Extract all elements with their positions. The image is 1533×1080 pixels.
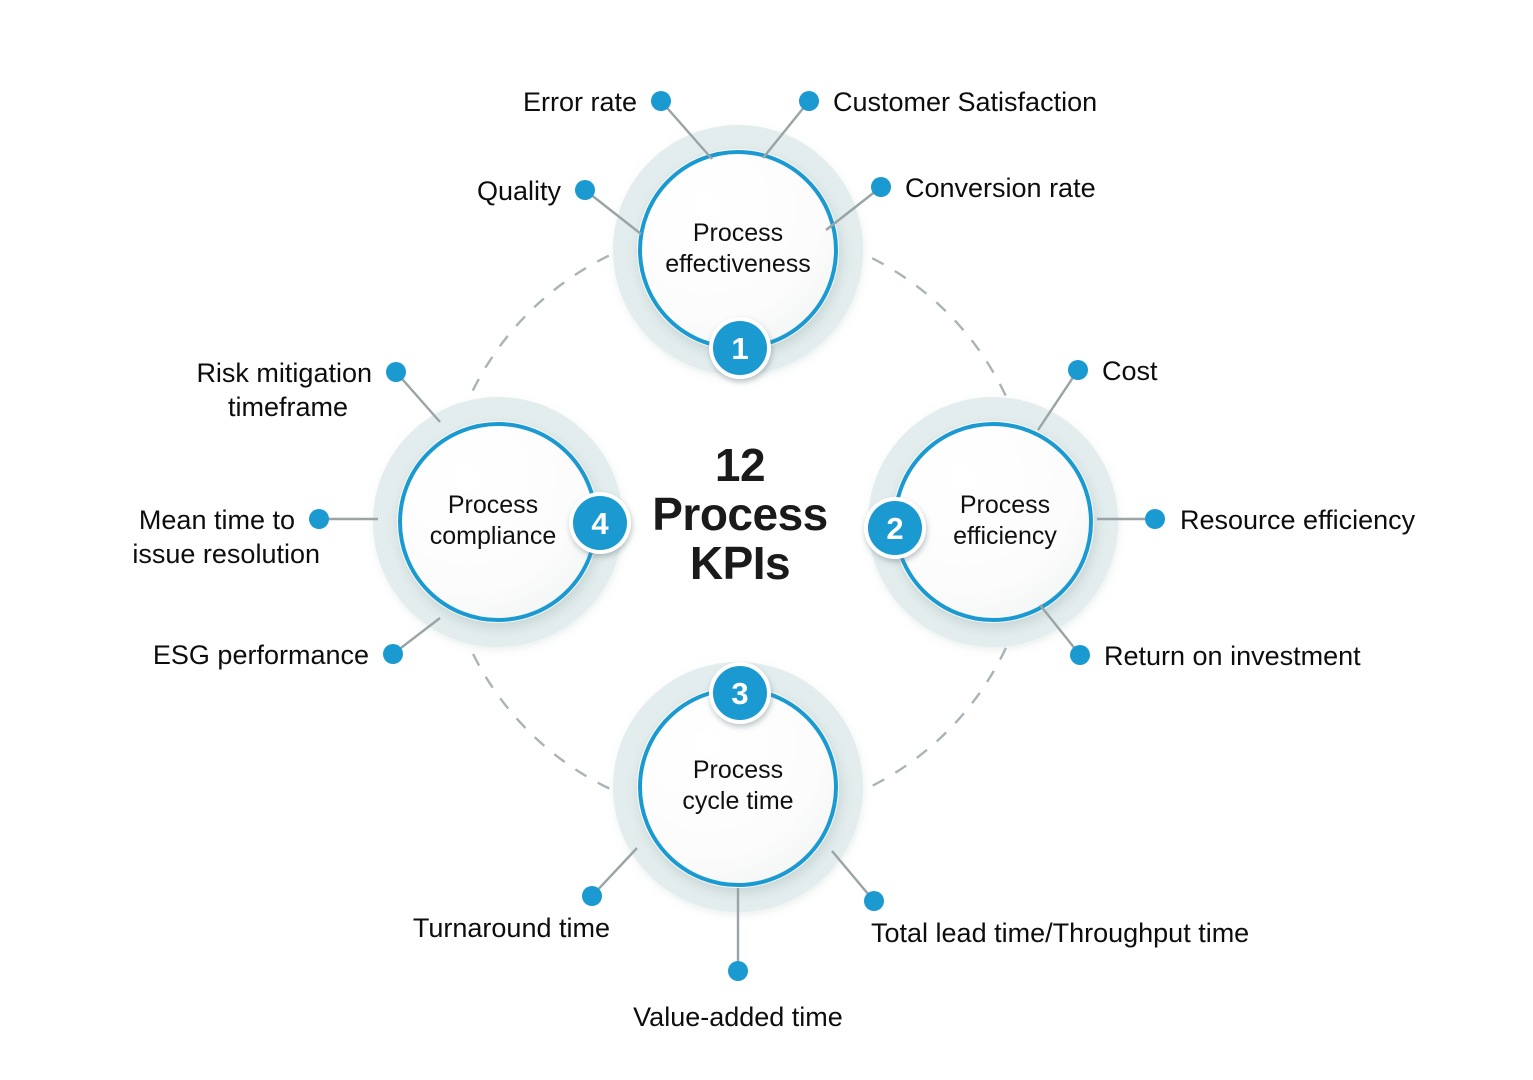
diagram-canvas: Process effectiveness 1 Error rate Custo… <box>0 0 1533 1080</box>
node-3-title-line1: Process <box>693 756 783 784</box>
label-value-added-time: Value-added time <box>633 1002 843 1032</box>
dot-resource-efficiency[interactable] <box>1145 509 1165 529</box>
label-risk-mitigation-line1: Risk mitigation <box>196 358 372 388</box>
node-4-labels: Risk mitigation timeframe Mean time to i… <box>132 358 372 670</box>
dot-error-rate[interactable] <box>651 91 671 111</box>
dot-turnaround-time[interactable] <box>582 886 602 906</box>
node-2-badge-number: 2 <box>886 511 903 546</box>
node-4-badge-number: 4 <box>591 506 609 541</box>
node-1-badge-number: 1 <box>731 331 748 366</box>
label-total-lead-time: Total lead time/Throughput time <box>871 918 1249 948</box>
dot-customer-satisfaction[interactable] <box>799 91 819 111</box>
label-risk-mitigation-line2: timeframe <box>228 392 348 422</box>
center-title-line2: Process <box>652 488 828 540</box>
label-customer-satisfaction: Customer Satisfaction <box>833 87 1097 117</box>
node-process-efficiency[interactable]: Process efficiency 2 <box>864 397 1118 647</box>
node-1-title-line2: effectiveness <box>665 250 810 278</box>
node-3-title-line2: cycle time <box>682 787 793 815</box>
label-conversion-rate: Conversion rate <box>905 173 1096 203</box>
dot-quality[interactable] <box>575 180 595 200</box>
center-title-line3: KPIs <box>690 537 790 589</box>
label-mean-time-line2: issue resolution <box>132 539 320 569</box>
label-turnaround-time: Turnaround time <box>413 913 610 943</box>
dot-total-lead-time[interactable] <box>864 891 884 911</box>
dot-return-on-investment[interactable] <box>1070 645 1090 665</box>
center-title-line1: 12 <box>715 439 765 491</box>
node-1-title-line1: Process <box>693 219 783 247</box>
label-error-rate: Error rate <box>523 87 637 117</box>
node-4-title-line1: Process <box>448 491 538 519</box>
node-2-title-line1: Process <box>960 491 1050 519</box>
label-esg-performance: ESG performance <box>153 640 369 670</box>
dot-cost[interactable] <box>1068 360 1088 380</box>
node-process-cycle-time[interactable]: Process cycle time 3 <box>613 662 863 912</box>
label-resource-efficiency: Resource efficiency <box>1180 505 1416 535</box>
dot-mean-time[interactable] <box>309 509 329 529</box>
label-quality: Quality <box>477 176 562 206</box>
dot-esg-performance[interactable] <box>383 644 403 664</box>
center-title: 12 Process KPIs <box>652 439 828 589</box>
node-process-effectiveness[interactable]: Process effectiveness 1 <box>613 125 863 379</box>
label-return-on-investment: Return on investment <box>1104 641 1361 671</box>
node-4-title-line2: compliance <box>430 522 556 550</box>
dot-value-added-time[interactable] <box>728 961 748 981</box>
node-3-labels: Turnaround time Value-added time Total l… <box>413 913 1249 1032</box>
dot-conversion-rate[interactable] <box>871 177 891 197</box>
node-process-compliance[interactable]: Process compliance 4 <box>373 397 631 647</box>
node-2-title-line2: efficiency <box>953 522 1057 550</box>
process-kpi-diagram: Process effectiveness 1 Error rate Custo… <box>0 0 1533 1080</box>
dot-risk-mitigation[interactable] <box>386 362 406 382</box>
node-3-badge-number: 3 <box>731 676 748 711</box>
label-cost: Cost <box>1102 356 1158 386</box>
label-mean-time-line1: Mean time to <box>139 505 295 535</box>
